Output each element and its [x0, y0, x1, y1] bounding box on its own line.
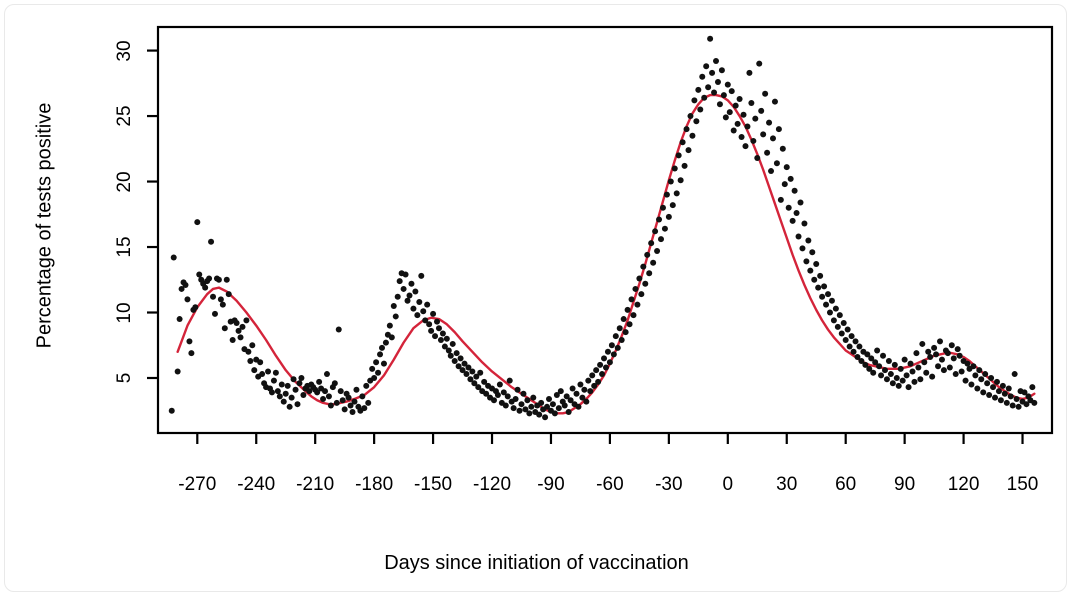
data-point [768, 168, 774, 174]
data-point [699, 74, 705, 80]
data-point [273, 370, 279, 376]
data-point [495, 392, 501, 398]
data-point [269, 389, 275, 395]
data-point [735, 121, 741, 127]
data-point [815, 285, 821, 291]
data-point [271, 378, 277, 384]
data-point [780, 146, 786, 152]
data-point [259, 371, 265, 377]
data-point [900, 378, 906, 384]
data-point [953, 371, 959, 377]
data-point [257, 359, 263, 365]
data-point [758, 108, 764, 114]
data-point [713, 58, 719, 64]
data-point [744, 124, 750, 130]
data-point [931, 345, 937, 351]
data-point [908, 361, 914, 367]
data-point [1006, 385, 1012, 391]
data-point [518, 401, 524, 407]
data-point [719, 67, 725, 73]
data-point [911, 379, 917, 385]
data-point [705, 84, 711, 90]
data-point [416, 299, 422, 305]
data-point [208, 239, 214, 245]
data-point [583, 399, 589, 405]
data-point [717, 101, 723, 107]
data-point [640, 264, 646, 270]
data-point [613, 333, 619, 339]
data-point [599, 371, 605, 377]
data-point [853, 338, 859, 344]
y-tick-label: 15 [114, 227, 136, 267]
data-point [923, 370, 929, 376]
data-point [658, 236, 664, 242]
data-point [438, 337, 444, 343]
data-point [538, 400, 544, 406]
data-point [597, 362, 603, 368]
data-point [536, 412, 542, 418]
data-point [904, 372, 910, 378]
data-point [407, 292, 413, 298]
y-tick-label: 10 [114, 293, 136, 333]
data-point [754, 155, 760, 161]
data-point [316, 379, 322, 385]
data-point [798, 200, 804, 206]
data-point [876, 363, 882, 369]
data-point [526, 410, 532, 416]
data-point [841, 320, 847, 326]
data-point [959, 368, 965, 374]
data-point [491, 397, 497, 403]
data-point [546, 396, 552, 402]
data-point [289, 395, 295, 401]
data-point [827, 310, 833, 316]
data-point [377, 351, 383, 357]
data-point [424, 302, 430, 308]
data-point [436, 325, 442, 331]
data-point [206, 275, 212, 281]
data-point [177, 316, 183, 322]
data-point [888, 371, 894, 377]
data-point [650, 260, 656, 266]
data-point [581, 387, 587, 393]
data-point [678, 177, 684, 183]
data-point [1014, 396, 1020, 402]
data-point [188, 350, 194, 356]
data-point [968, 382, 974, 388]
data-point [603, 365, 609, 371]
data-point [927, 354, 933, 360]
data-point [397, 278, 403, 284]
data-point [703, 63, 709, 69]
data-point [933, 351, 939, 357]
data-point [764, 150, 770, 156]
data-point [680, 139, 686, 145]
data-point [239, 324, 245, 330]
data-point [870, 370, 876, 376]
data-point [373, 359, 379, 365]
data-point [672, 165, 678, 171]
data-points-layer [169, 36, 1038, 420]
data-point [224, 277, 230, 283]
data-point [222, 325, 228, 331]
data-point [477, 370, 483, 376]
data-point [338, 388, 344, 394]
data-point [984, 380, 990, 386]
data-point [725, 82, 731, 88]
data-point [733, 103, 739, 109]
data-point [825, 291, 831, 297]
data-point [507, 378, 513, 384]
data-point [1002, 391, 1008, 397]
data-point [589, 372, 595, 378]
data-point [279, 382, 285, 388]
data-point [218, 296, 224, 302]
data-point [184, 296, 190, 302]
data-point [851, 349, 857, 355]
data-point [937, 338, 943, 344]
data-point [684, 126, 690, 132]
data-point [346, 395, 352, 401]
data-point [821, 283, 827, 289]
data-point [886, 358, 892, 364]
data-point [293, 387, 299, 393]
data-point [902, 357, 908, 363]
data-point [369, 366, 375, 372]
data-point [660, 205, 666, 211]
data-point [601, 355, 607, 361]
data-point [1029, 384, 1035, 390]
data-point [756, 61, 762, 67]
data-point [737, 96, 743, 102]
data-point [644, 252, 650, 258]
data-point [281, 399, 287, 405]
data-point [811, 277, 817, 283]
data-point [807, 268, 813, 274]
data-point [748, 100, 754, 106]
data-point [896, 383, 902, 389]
data-point [1004, 400, 1010, 406]
data-point [550, 401, 556, 407]
data-point [990, 384, 996, 390]
data-point [772, 99, 778, 105]
data-point [350, 409, 356, 415]
data-point [605, 349, 611, 355]
data-point [917, 376, 923, 382]
data-point [379, 345, 385, 351]
data-point [328, 403, 334, 409]
data-point [919, 341, 925, 347]
data-point [906, 384, 912, 390]
data-point [387, 323, 393, 329]
data-point [695, 87, 701, 93]
data-point [790, 218, 796, 224]
data-point [517, 408, 523, 414]
data-point [575, 404, 581, 410]
data-point [251, 367, 257, 373]
data-point [721, 92, 727, 98]
data-point [894, 375, 900, 381]
data-point [566, 409, 572, 415]
data-point [837, 312, 843, 318]
data-point [955, 346, 961, 352]
data-point [458, 355, 464, 361]
data-point [715, 79, 721, 85]
data-point [570, 385, 576, 391]
data-point [243, 317, 249, 323]
data-point [965, 361, 971, 367]
data-point [774, 160, 780, 166]
data-point [980, 389, 986, 395]
data-point [326, 393, 332, 399]
data-point [558, 388, 564, 394]
data-point [245, 349, 251, 355]
data-point [420, 308, 426, 314]
data-point [892, 362, 898, 368]
data-point [727, 109, 733, 115]
data-point [794, 210, 800, 216]
data-point [332, 380, 338, 386]
data-point [434, 319, 440, 325]
data-point [414, 312, 420, 318]
data-point [664, 192, 670, 198]
data-point [381, 361, 387, 367]
data-point [941, 367, 947, 373]
data-point [463, 371, 469, 377]
data-point [646, 270, 652, 276]
data-point [295, 401, 301, 407]
data-point [809, 249, 815, 255]
data-point [542, 414, 548, 420]
data-point [782, 181, 788, 187]
data-point [992, 395, 998, 401]
data-point [707, 36, 713, 42]
data-point [296, 380, 302, 386]
data-point [686, 147, 692, 153]
data-point [401, 286, 407, 292]
data-point [788, 176, 794, 182]
data-point [629, 296, 635, 302]
data-point [880, 353, 886, 359]
data-point [194, 219, 200, 225]
data-point [621, 316, 627, 322]
data-point [636, 275, 642, 281]
data-point [322, 388, 328, 394]
data-point [324, 371, 330, 377]
y-tick-label: 25 [114, 96, 136, 136]
data-point [210, 294, 216, 300]
data-point [609, 342, 615, 348]
data-point [607, 359, 613, 365]
data-point [577, 382, 583, 388]
data-point [803, 258, 809, 264]
data-point [978, 376, 984, 382]
data-point [835, 324, 841, 330]
data-point [351, 399, 357, 405]
data-point [1016, 404, 1022, 410]
data-point [994, 379, 1000, 385]
data-point [638, 291, 644, 297]
data-point [454, 350, 460, 356]
data-point [320, 396, 326, 402]
x-tick-label: 150 [988, 474, 1058, 496]
data-point [949, 342, 955, 348]
data-point [689, 133, 695, 139]
data-point [1010, 403, 1016, 409]
data-point [913, 350, 919, 356]
data-point [882, 367, 888, 373]
data-point [674, 190, 680, 196]
data-point [412, 289, 418, 295]
data-point [574, 391, 580, 397]
data-point [711, 89, 717, 95]
data-point [452, 358, 458, 364]
data-point [697, 107, 703, 113]
data-point [766, 120, 772, 126]
data-point [448, 353, 454, 359]
data-point [171, 255, 177, 261]
data-point [1008, 393, 1014, 399]
data-point [687, 113, 693, 119]
data-point [776, 126, 782, 132]
data-point [192, 304, 198, 310]
data-point [230, 337, 236, 343]
data-point [823, 302, 829, 308]
data-point [275, 388, 281, 394]
data-point [353, 387, 359, 393]
data-point [440, 330, 446, 336]
data-point [291, 376, 297, 382]
data-point [530, 395, 536, 401]
data-point [375, 370, 381, 376]
data-point [430, 311, 436, 317]
data-point [520, 391, 526, 397]
data-point [556, 405, 562, 411]
data-point [642, 281, 648, 287]
data-point [709, 70, 715, 76]
data-point [363, 383, 369, 389]
data-point [287, 404, 293, 410]
data-point [524, 397, 530, 403]
data-point [668, 179, 674, 185]
data-point [778, 197, 784, 203]
data-point [361, 405, 367, 411]
data-point [619, 337, 625, 343]
data-point [450, 341, 456, 347]
data-point [945, 350, 951, 356]
data-point [792, 188, 798, 194]
data-point [910, 368, 916, 374]
data-point [682, 163, 688, 169]
data-point [515, 387, 521, 393]
data-point [298, 375, 304, 381]
data-point [371, 375, 377, 381]
data-point [234, 320, 240, 326]
x-axis-label: Days since initiation of vaccination [0, 552, 1073, 575]
data-point [1000, 383, 1006, 389]
data-point [212, 311, 218, 317]
data-point [444, 336, 450, 342]
scatter-plot-canvas [0, 0, 1073, 598]
data-point [972, 372, 978, 378]
data-point [831, 317, 837, 323]
data-point [947, 365, 953, 371]
data-point [334, 400, 340, 406]
data-point [742, 143, 748, 149]
data-point [839, 330, 845, 336]
data-point [283, 391, 289, 397]
data-point [845, 327, 851, 333]
data-point [634, 302, 640, 308]
data-point [238, 334, 244, 340]
data-point [805, 237, 811, 243]
data-point [202, 285, 208, 291]
data-point [585, 378, 591, 384]
data-point [915, 365, 921, 371]
data-point [770, 135, 776, 141]
data-point [426, 321, 432, 327]
data-point [503, 403, 509, 409]
data-point [843, 337, 849, 343]
data-point [760, 131, 766, 137]
data-point [666, 214, 672, 220]
data-point [998, 397, 1004, 403]
data-point [403, 272, 409, 278]
data-point [183, 282, 189, 288]
data-point [216, 277, 222, 283]
data-point [935, 363, 941, 369]
data-point [746, 70, 752, 76]
data-point [285, 383, 291, 389]
data-point [593, 367, 599, 373]
data-point [833, 306, 839, 312]
data-point [393, 313, 399, 319]
data-point [336, 327, 342, 333]
data-point [982, 371, 988, 377]
data-point [847, 344, 853, 350]
data-point [169, 408, 175, 414]
data-point [874, 347, 880, 353]
data-point [446, 347, 452, 353]
data-point [469, 368, 475, 374]
data-point [226, 291, 232, 297]
data-point [418, 273, 424, 279]
y-tick-label: 5 [114, 358, 136, 398]
data-point [648, 240, 654, 246]
data-point [921, 359, 927, 365]
data-point [963, 378, 969, 384]
data-point [175, 368, 181, 374]
data-point [819, 294, 825, 300]
data-point [391, 303, 397, 309]
data-point [513, 396, 519, 402]
data-point [676, 152, 682, 158]
data-point [428, 328, 434, 334]
data-point [739, 134, 745, 140]
data-point [723, 114, 729, 120]
data-point [762, 91, 768, 97]
data-point [528, 404, 534, 410]
data-point [929, 374, 935, 380]
y-axis-label: Percentage of tests positive [34, 61, 57, 391]
data-point [957, 353, 963, 359]
data-point [898, 366, 904, 372]
data-point [951, 355, 957, 361]
data-point [970, 363, 976, 369]
data-point [799, 245, 805, 251]
y-tick-label: 30 [114, 31, 136, 71]
data-point [408, 281, 414, 287]
